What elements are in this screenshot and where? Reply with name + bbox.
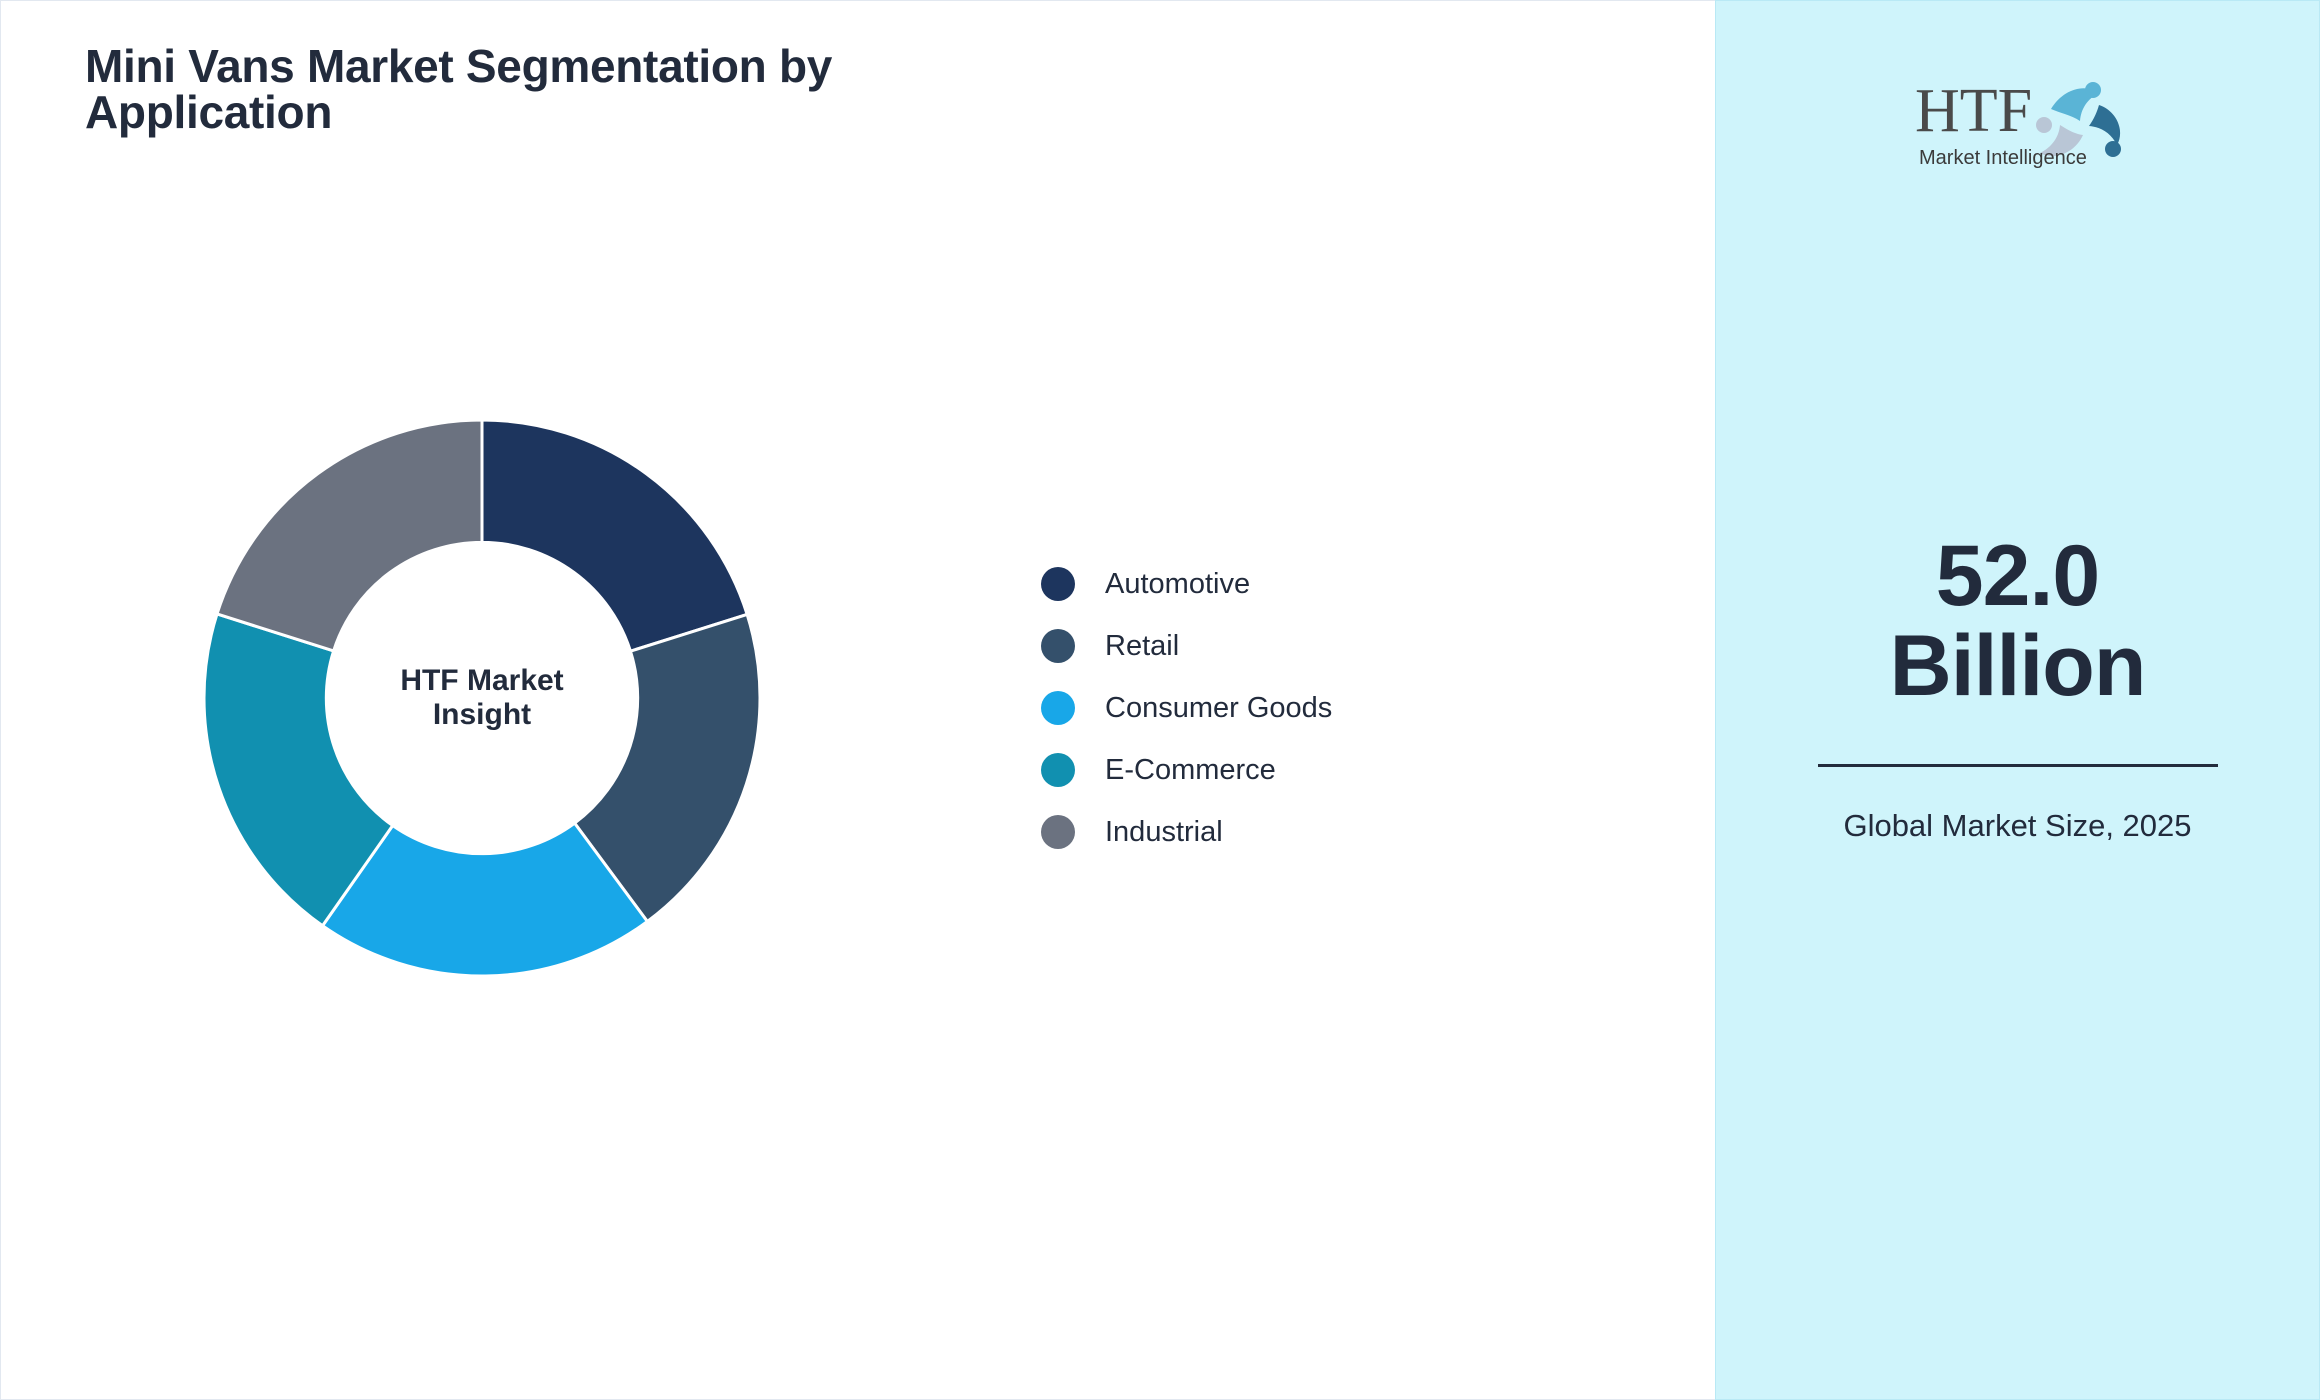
stat-panel: HTF Market Intelligence 52.0 Billion Glo… — [1715, 0, 2320, 1400]
legend-item-label: Industrial — [1105, 816, 1223, 849]
market-size-stat: 52.0 Billion Global Market Size, 2025 — [1798, 531, 2238, 845]
logo-tagline-text: Market Intelligence — [1919, 147, 2087, 169]
legend-item-label: Automotive — [1105, 568, 1250, 601]
logo-wordmark-text: HTF — [1915, 77, 2032, 145]
stat-value: 52.0 Billion — [1798, 531, 2238, 712]
donut-slice-group — [204, 420, 760, 976]
legend-item-label: Retail — [1105, 630, 1179, 663]
chart-legend: AutomotiveRetailConsumer GoodsE-Commerce… — [1041, 553, 1521, 863]
legend-item[interactable]: Industrial — [1041, 801, 1521, 863]
infographic-canvas: Mini Vans Market Segmentation by Applica… — [0, 0, 2320, 1400]
donut-chart: HTF Market Insight — [204, 420, 760, 976]
legend-swatch-icon — [1041, 815, 1075, 849]
legend-swatch-icon — [1041, 753, 1075, 787]
donut-slice[interactable] — [217, 420, 482, 651]
donut-slice[interactable] — [482, 420, 747, 651]
chart-panel: Mini Vans Market Segmentation by Applica… — [0, 0, 1715, 1400]
logo-triskelion-icon — [2036, 82, 2121, 157]
logo-svg: HTF Market Intelligence — [1903, 63, 2133, 173]
legend-item[interactable]: Automotive — [1041, 553, 1521, 615]
legend-item-label: Consumer Goods — [1105, 692, 1332, 725]
legend-swatch-icon — [1041, 567, 1075, 601]
legend-item-label: E-Commerce — [1105, 754, 1276, 787]
stat-caption: Global Market Size, 2025 — [1798, 807, 2238, 846]
page-title: Mini Vans Market Segmentation by Applica… — [85, 43, 1085, 135]
htf-market-intelligence-logo: HTF Market Intelligence — [1903, 63, 2133, 173]
donut-chart-svg — [204, 420, 760, 976]
legend-swatch-icon — [1041, 691, 1075, 725]
legend-swatch-icon — [1041, 629, 1075, 663]
stat-divider — [1818, 764, 2218, 767]
legend-item[interactable]: Consumer Goods — [1041, 677, 1521, 739]
legend-item[interactable]: Retail — [1041, 615, 1521, 677]
legend-item[interactable]: E-Commerce — [1041, 739, 1521, 801]
